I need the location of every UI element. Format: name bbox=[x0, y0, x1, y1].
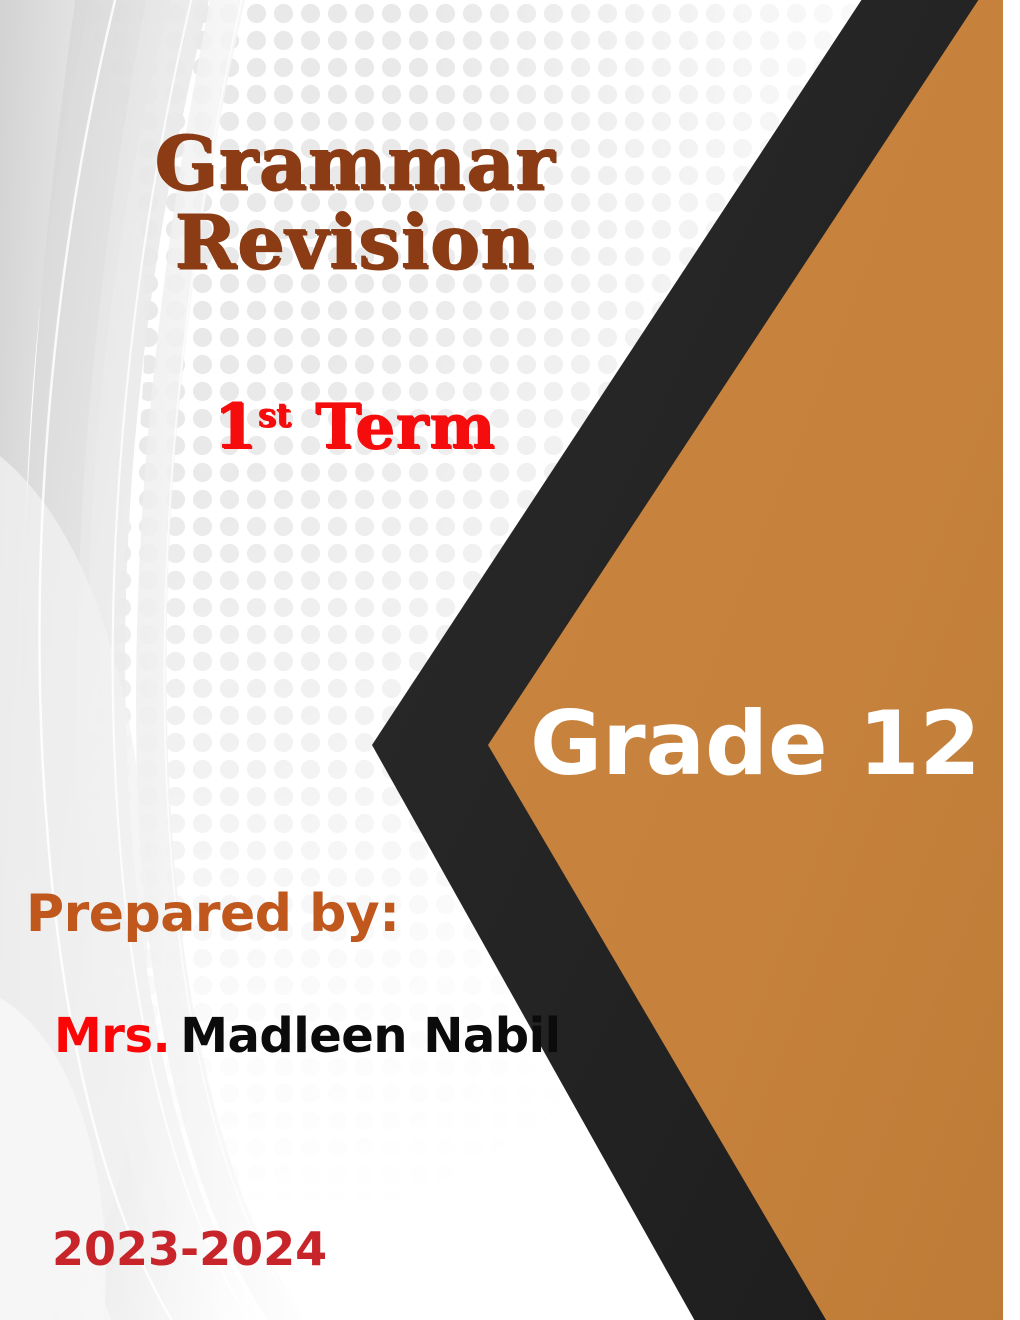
title-line-revision: Revision bbox=[60, 207, 650, 280]
author-honorific: Mrs. bbox=[54, 1008, 170, 1064]
academic-year-line: 2023-2024 bbox=[52, 1222, 327, 1276]
prepared-by-line: Prepared by: bbox=[26, 884, 400, 944]
term-number: 1 bbox=[214, 390, 258, 463]
term-ordinal-suffix: st bbox=[258, 396, 291, 434]
term-text: 1stTerm bbox=[214, 390, 496, 463]
term-label: 1stTerm bbox=[60, 390, 650, 463]
grade-banner: Grade 12 bbox=[530, 700, 1000, 788]
prepared-by-label: Prepared by: bbox=[26, 884, 400, 944]
cover-content: Grammar Revision 1stTerm Grade 12 Prepar… bbox=[0, 0, 1020, 1320]
grade-label: Grade 12 bbox=[530, 692, 981, 795]
cover-page: Grammar Revision 1stTerm Grade 12 Prepar… bbox=[0, 0, 1020, 1320]
author-name: Madleen Nabil bbox=[180, 1008, 560, 1064]
author-line: Mrs.Madleen Nabil bbox=[54, 1008, 561, 1064]
academic-year-label: 2023-2024 bbox=[52, 1222, 327, 1276]
title-line-grammar: Grammar bbox=[60, 128, 650, 201]
term-word: Term bbox=[315, 390, 496, 463]
document-title: Grammar Revision bbox=[60, 128, 650, 279]
